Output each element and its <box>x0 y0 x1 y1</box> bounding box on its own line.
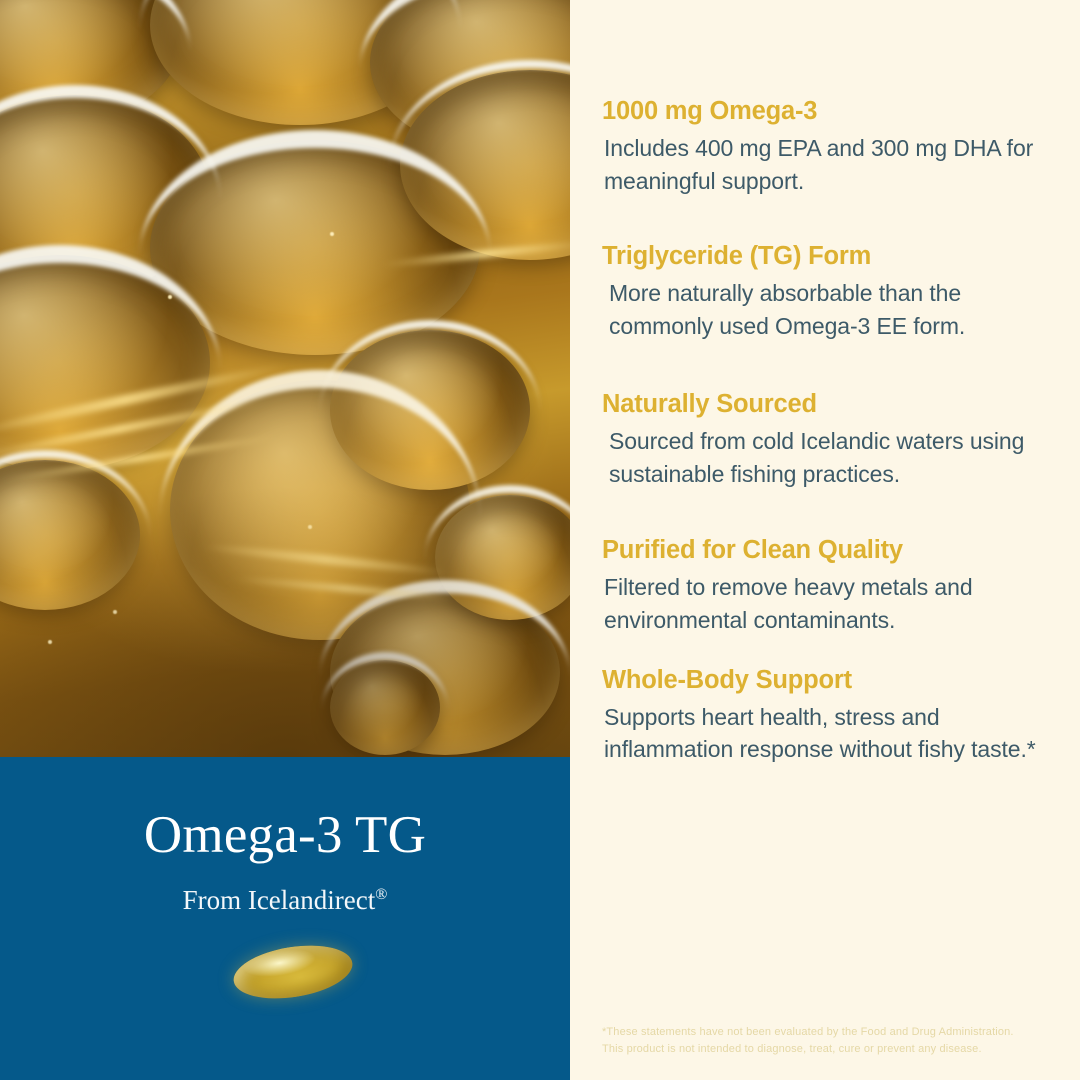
brand-subtitle: From Icelandirect® <box>0 887 570 914</box>
disclaimer-line-2: This product is not intended to diagnose… <box>602 1041 1052 1058</box>
benefit-item: Triglyceride (TG) Form More naturally ab… <box>602 241 1064 342</box>
benefit-title: Triglyceride (TG) Form <box>602 241 1064 271</box>
capsule-shape <box>230 938 356 1006</box>
benefit-item: Naturally Sourced Sourced from cold Icel… <box>602 389 1064 490</box>
benefit-item: 1000 mg Omega-3 Includes 400 mg EPA and … <box>602 96 1064 197</box>
oil-bubbles-photo <box>0 0 570 757</box>
benefits-list: 1000 mg Omega-3 Includes 400 mg EPA and … <box>602 96 1064 766</box>
product-title: Omega-3 TG <box>0 809 570 862</box>
oil-sparkle <box>308 525 312 529</box>
benefit-body: Filtered to remove heavy metals and envi… <box>602 571 1064 636</box>
softgel-capsule <box>233 945 353 999</box>
benefit-body: Includes 400 mg EPA and 300 mg DHA for m… <box>602 132 1064 197</box>
oil-bubble <box>0 460 140 610</box>
benefit-body: More naturally absorbable than the commo… <box>602 277 1064 342</box>
benefit-item: Purified for Clean Quality Filtered to r… <box>602 535 1064 636</box>
brand-from-label: From Icelandirect <box>183 885 376 915</box>
oil-bubble <box>330 660 440 755</box>
benefit-body: Supports heart health, stress and inflam… <box>602 701 1064 766</box>
right-column: 1000 mg Omega-3 Includes 400 mg EPA and … <box>570 0 1080 1080</box>
benefit-title: Purified for Clean Quality <box>602 535 1064 565</box>
left-column: Omega-3 TG From Icelandirect® <box>0 0 570 1080</box>
oil-sparkle <box>113 610 117 614</box>
oil-sparkle <box>330 232 334 236</box>
product-infographic: Omega-3 TG From Icelandirect® 1000 mg Om… <box>0 0 1080 1080</box>
brand-panel: Omega-3 TG From Icelandirect® <box>0 757 570 1080</box>
benefit-title: Whole-Body Support <box>602 665 1064 695</box>
benefit-title: 1000 mg Omega-3 <box>602 96 1064 126</box>
benefit-title: Naturally Sourced <box>602 389 1064 419</box>
registered-trademark-icon: ® <box>375 886 387 903</box>
benefit-body: Sourced from cold Icelandic waters using… <box>602 425 1064 490</box>
oil-bubble <box>330 330 530 490</box>
oil-sparkle <box>48 640 52 644</box>
oil-sparkle <box>168 295 172 299</box>
fda-disclaimer: *These statements have not been evaluate… <box>602 1024 1052 1057</box>
benefit-item: Whole-Body Support Supports heart health… <box>602 665 1064 766</box>
disclaimer-line-1: *These statements have not been evaluate… <box>602 1024 1052 1041</box>
